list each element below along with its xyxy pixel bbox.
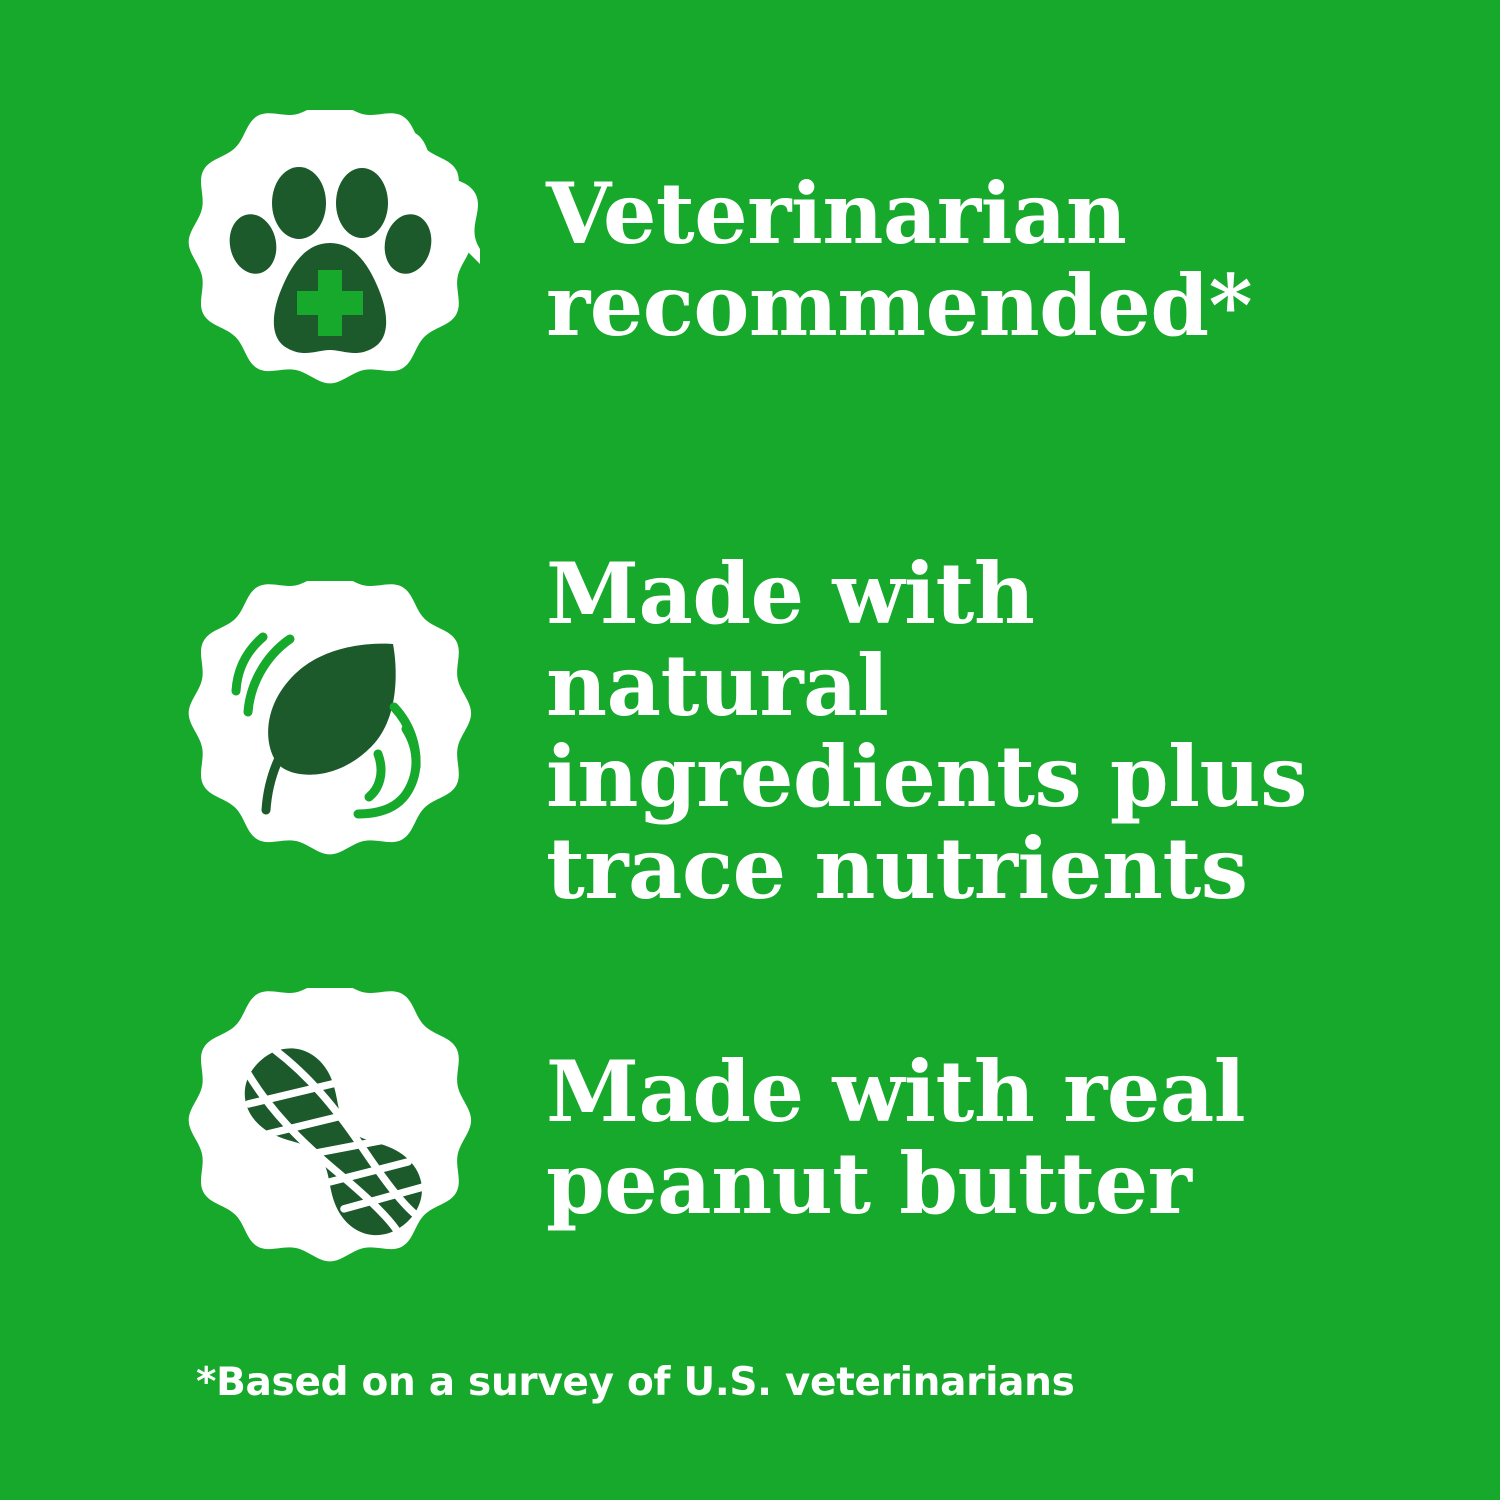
footnote-disclaimer: *Based on a survey of U.S. veterinarians: [196, 1360, 1075, 1405]
feature-label-natural-ingredients: Made with natural ingredients plus trace…: [546, 548, 1336, 914]
badge-natural-ingredients: [180, 581, 480, 881]
feature-label-veterinarian: Veterinarian recommended*: [546, 168, 1252, 351]
badge-peanut-butter: [180, 988, 480, 1288]
feature-row-natural-ingredients: Made with natural ingredients plus trace…: [180, 548, 1336, 914]
product-benefits-panel: Veterinarian recommended* Made with natu…: [0, 0, 1500, 1500]
feature-row-veterinarian: Veterinarian recommended*: [180, 110, 1252, 410]
feature-label-peanut-butter: Made with real peanut butter: [546, 1046, 1245, 1229]
feature-row-peanut-butter: Made with real peanut butter: [180, 988, 1245, 1288]
leaf-with-motion-lines-icon: [180, 581, 480, 881]
paw-with-cross-icon: [180, 110, 480, 410]
peanut-in-shell-icon: [180, 988, 480, 1288]
badge-veterinarian: [180, 110, 480, 410]
